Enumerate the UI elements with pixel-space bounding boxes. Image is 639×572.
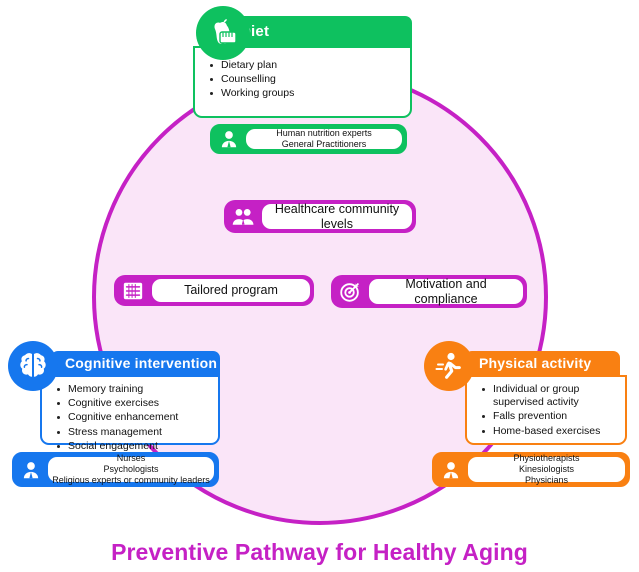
checklist-icon [114,280,152,302]
list-item: Home-based exercises [479,425,619,438]
list-item: Stress management [54,426,210,439]
panel-physical-title: Physical activity [479,355,591,371]
staff-line: General Practitioners [282,139,367,150]
pill-tailored-program: Tailored program [114,275,314,306]
pill-motivation-text: Motivation and compliance [369,279,523,304]
list-item: Cognitive exercises [54,397,210,410]
staff-physical-text: Physiotherapists Kinesiologists Physicia… [468,457,625,482]
pill-line-2: levels [321,217,353,231]
staff-cognitive: Nurses Psychologists Religious experts o… [12,452,219,487]
person-icon [212,128,246,150]
panel-cognitive-title: Cognitive intervention [65,355,217,371]
list-item: Counselling [207,73,400,86]
staff-line: Human nutrition experts [276,128,372,139]
person-icon [434,459,468,481]
pill-healthcare-text: Healthcare community levels [262,204,412,229]
target-icon [331,280,369,304]
pill-healthcare-community-levels: Healthcare community levels [224,200,416,233]
list-item: Dietary plan [207,59,400,72]
two-people-icon [224,206,262,228]
staff-line: Kinesiologists [519,464,574,475]
diagram-canvas: Diet Dietary plan Counselling Working gr… [0,0,639,572]
staff-line: Physiotherapists [513,453,579,464]
pill-motivation-compliance: Motivation and compliance [331,275,527,308]
pill-line-1: Tailored program [184,283,278,298]
list-item: Individual or group supervised activity [479,383,619,409]
list-item: Cognitive enhancement [54,411,210,424]
staff-line: Physicians [525,475,568,486]
list-item: Working groups [207,87,400,100]
list-item: Falls prevention [479,410,619,423]
panel-cognitive-header: Cognitive intervention [51,351,220,375]
pill-line-2: compliance [414,292,477,306]
staff-diet: Human nutrition experts General Practiti… [210,124,407,154]
panel-physical-header: Physical activity [465,351,620,375]
pill-line-1: Motivation and [405,277,486,291]
panel-diet-header: Diet [226,16,412,46]
list-item: Memory training [54,383,210,396]
panel-physical-body: Individual or group supervised activity … [465,375,627,445]
staff-cognitive-text: Nurses Psychologists Religious experts o… [48,457,214,482]
staff-line: Nurses [117,453,146,464]
page-title: Preventive Pathway for Healthy Aging [0,539,639,566]
panel-cognitive-body: Memory training Cognitive exercises Cogn… [40,375,220,445]
staff-line: Religious experts or community leaders [52,475,210,486]
panel-cognitive-list: Memory training Cognitive exercises Cogn… [54,383,210,453]
pill-line-1: Healthcare community [275,202,399,216]
pill-tailored-text: Tailored program [152,279,310,302]
staff-diet-text: Human nutrition experts General Practiti… [246,129,402,149]
staff-line: Psychologists [103,464,158,475]
brain-icon [8,341,58,391]
panel-diet-list: Dietary plan Counselling Working groups [207,59,400,101]
staff-physical: Physiotherapists Kinesiologists Physicia… [432,452,630,487]
apple-tape-measure-icon [196,6,250,60]
running-person-icon [424,341,474,391]
panel-physical-list: Individual or group supervised activity … [479,383,619,438]
person-icon [14,459,48,481]
